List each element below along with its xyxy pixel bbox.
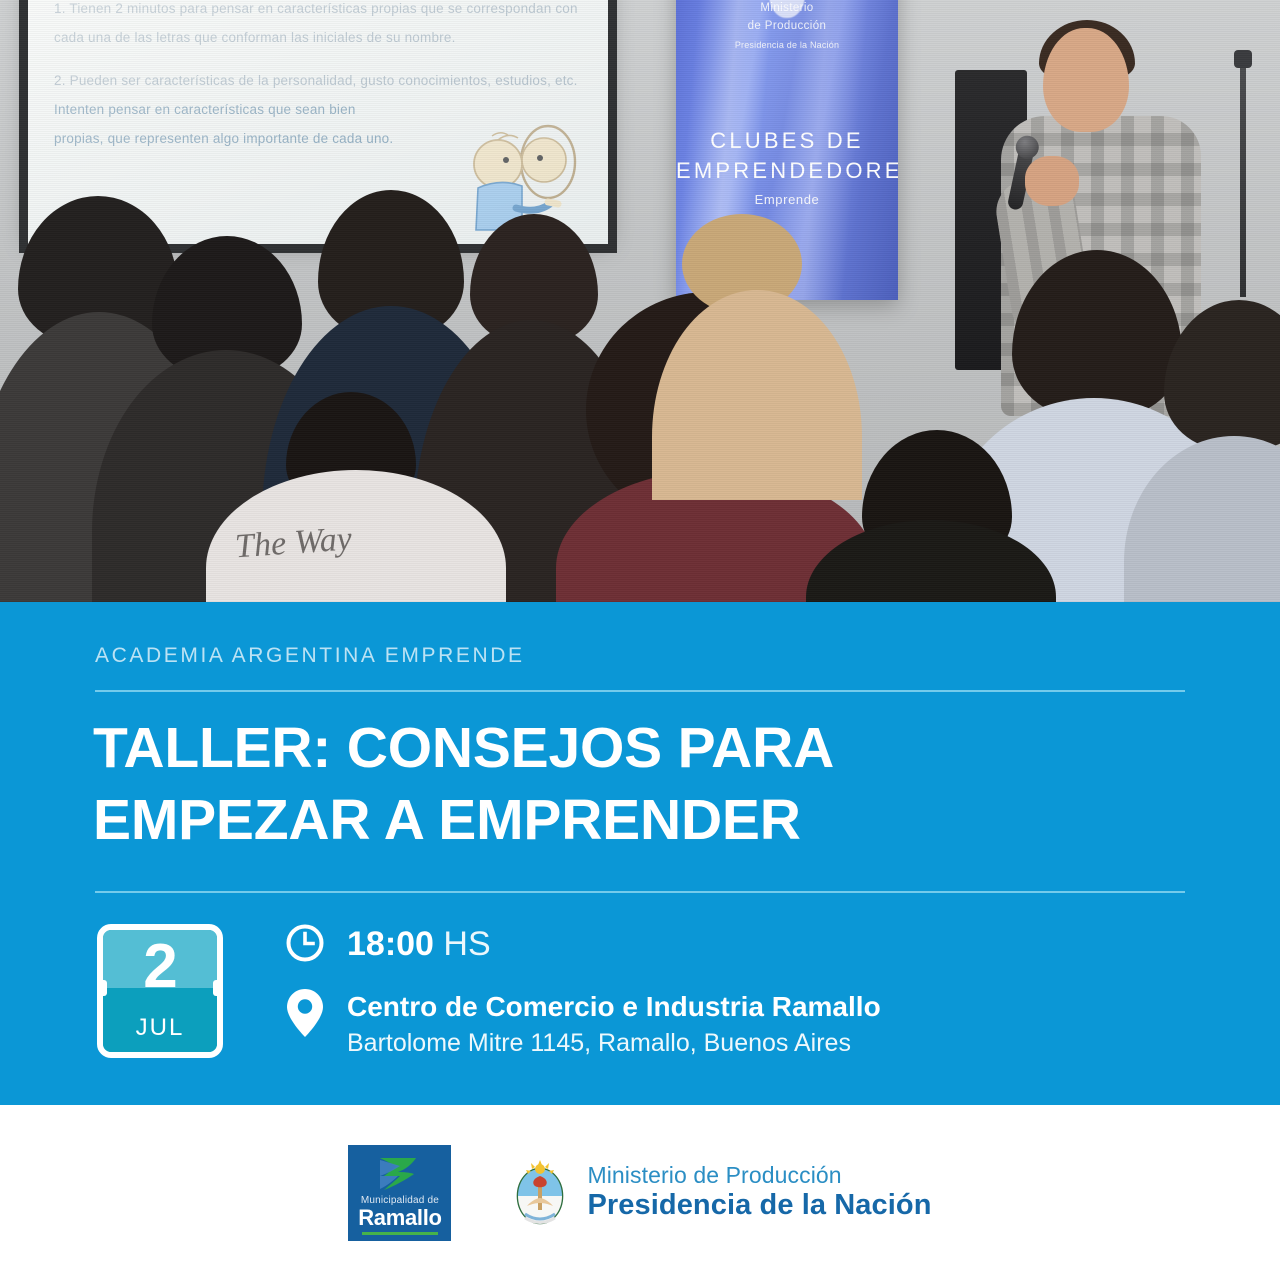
location-text: Centro de Comercio e Industria Ramallo B… — [347, 990, 881, 1060]
divider-top — [95, 690, 1185, 692]
ministry-line1: Ministerio de Producción — [587, 1163, 931, 1189]
event-title-line1: TALLER: CONSEJOS PARA — [93, 716, 834, 780]
sponsor-footer: Municipalidad de Ramallo — [0, 1105, 1280, 1280]
ministry-line2: Presidencia de la Nación — [587, 1189, 931, 1221]
slide-item-1-number: 1. — [54, 1, 66, 16]
argentina-coat-of-arms-icon — [509, 1156, 571, 1230]
time-row: 18:00 HS — [283, 920, 1183, 966]
ministerio-produccion-logo: Ministerio de Producción Presidencia de … — [509, 1156, 931, 1230]
event-poster: 1. Tienen 2 minutos para pensar en carac… — [0, 0, 1280, 1280]
time-unit: HS — [443, 925, 490, 963]
calendar-notch-left-icon — [100, 980, 107, 996]
presenter-hand — [1025, 156, 1079, 206]
event-photo: 1. Tienen 2 minutos para pensar en carac… — [0, 0, 1280, 602]
event-info: 18:00 HS Centro de Comercio e Industria … — [283, 920, 1183, 1060]
venue-address: Bartolome Mitre 1145, Ramallo, Buenos Ai… — [347, 1027, 881, 1060]
presenter-head — [1043, 28, 1129, 132]
map-pin-icon — [283, 990, 327, 1036]
location-row: Centro de Comercio e Industria Ramallo B… — [283, 990, 1183, 1060]
municipality-label: Municipalidad de — [361, 1196, 439, 1206]
event-details-panel: ACADEMIA ARGENTINA EMPRENDE TALLER: CONS… — [0, 602, 1280, 1105]
date-badge: 2 JUL — [97, 924, 223, 1058]
ramallo-swoosh-icon — [370, 1154, 430, 1194]
divider-middle — [95, 891, 1185, 893]
clock-icon — [283, 920, 327, 966]
ministry-text: Ministerio de Producción Presidencia de … — [587, 1163, 931, 1221]
slide-item-1-text: Tienen 2 minutos para pensar en caracter… — [54, 1, 578, 45]
date-month: JUL — [103, 1014, 217, 1042]
municipality-name: Ramallo — [358, 1207, 441, 1229]
ramallo-underline — [362, 1232, 438, 1235]
event-title: TALLER: CONSEJOS PARA EMPEZAR A EMPRENDE… — [93, 712, 1093, 857]
microphone-stand — [1240, 62, 1246, 297]
time-value: 18:00 — [347, 925, 434, 963]
calendar-notch-right-icon — [213, 980, 220, 996]
program-kicker: ACADEMIA ARGENTINA EMPRENDE — [95, 644, 525, 668]
slide-item-2-number: 2. — [54, 73, 66, 88]
municipalidad-ramallo-logo: Municipalidad de Ramallo — [348, 1145, 451, 1241]
slide-item-2-text: Pueden ser características de la persona… — [70, 73, 578, 88]
date-day: 2 — [103, 936, 217, 998]
event-title-line2: EMPEZAR A EMPRENDER — [93, 788, 801, 852]
event-time: 18:00 HS — [347, 920, 491, 966]
venue-name: Centro de Comercio e Industria Ramallo — [347, 990, 881, 1024]
